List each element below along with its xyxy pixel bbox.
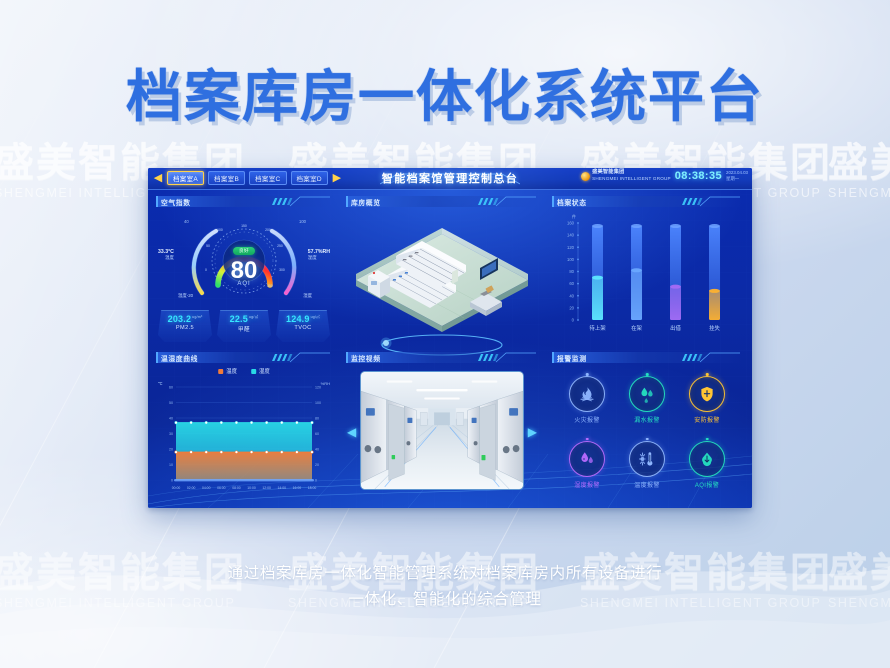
panel-header: 报警监测 <box>552 352 742 363</box>
alarm-status-dot <box>706 373 709 376</box>
page-title: 档案库房一体化系统平台 <box>0 52 890 133</box>
alarm-label: 安防报警 <box>689 415 725 424</box>
aqi-status-badge: 良好 <box>233 247 255 255</box>
legend-item-temperature[interactable]: 温度 <box>218 367 237 375</box>
svg-text:100: 100 <box>217 228 223 232</box>
video-feed-image <box>361 372 523 489</box>
company-logo-icon <box>581 172 590 181</box>
panel-title: 档案状态 <box>557 197 587 207</box>
svg-text:%RH: %RH <box>321 381 330 386</box>
svg-text:00:00: 00:00 <box>172 486 181 490</box>
svg-text:80: 80 <box>315 417 319 421</box>
alarm-item-shield[interactable]: 安防报警 <box>689 376 725 424</box>
company-logo-en: SHENGMEI INTELLIGENT GROUP <box>592 176 671 181</box>
svg-text:18:00: 18:00 <box>308 486 317 490</box>
fire-icon <box>578 385 596 403</box>
panel-title: 报警监测 <box>557 353 587 363</box>
dashboard-header: ◀ 档案室A 档案室B 档案室C 档案室D ▶ 智能档案馆管理控制总台 盛美智能… <box>148 168 752 190</box>
panel-header: 档案状态 <box>552 196 742 207</box>
panel-header-deco-icon <box>270 196 330 207</box>
svg-text:50: 50 <box>206 244 210 248</box>
panel-title: 监控视频 <box>351 353 381 363</box>
caption-line-2: 一体化、智能化的综合管理 <box>0 587 890 613</box>
alarm-status-dot <box>706 438 709 441</box>
panel-body: ◀ ▶ <box>346 365 538 498</box>
alarm-label: AQI报警 <box>689 480 725 489</box>
chart-legend: 温度 湿度 <box>218 367 270 375</box>
video-next-arrow-icon[interactable]: ▶ <box>528 425 537 439</box>
svg-text:200: 200 <box>265 228 271 232</box>
metric-value: 203.2ug/m³ <box>158 314 212 324</box>
alarm-item-humidity[interactable]: 湿度报警 <box>569 441 605 489</box>
svg-text:出借: 出借 <box>670 324 681 332</box>
svg-text:14:00: 14:00 <box>278 486 287 490</box>
legend-label: 湿度 <box>259 367 270 375</box>
panel-temp-humidity-curve: 温湿度曲线 温度 湿度 ℃%RH0010202040306 <box>156 352 332 498</box>
alarm-ring <box>569 376 605 412</box>
svg-text:60: 60 <box>569 281 574 286</box>
svg-text:120: 120 <box>315 386 321 390</box>
legend-swatch-temperature <box>218 369 223 374</box>
gauge-hum-max-label: 湿度 <box>303 293 312 299</box>
svg-text:50: 50 <box>169 401 173 405</box>
watermark: 盛美智能集团 SHENGMEI INTELLIGENT GROUP <box>828 142 890 200</box>
svg-text:40: 40 <box>315 448 319 452</box>
panel-video-surveillance: 监控视频 ◀ ▶ <box>346 352 538 498</box>
svg-text:0: 0 <box>171 479 173 483</box>
svg-text:在架: 在架 <box>631 324 642 332</box>
metric-label: 甲醛 <box>217 325 271 333</box>
header-weekday: 星期一 <box>726 176 748 182</box>
panel-title: 温湿度曲线 <box>161 353 198 363</box>
aqi-unit-label: AQI <box>214 281 274 287</box>
alarm-label: 温度报警 <box>629 480 665 489</box>
metric-value: 124.9ug/㎥ <box>276 314 330 324</box>
svg-text:80: 80 <box>569 269 574 274</box>
alarm-item-thermometer[interactable]: 温度报警 <box>629 441 665 489</box>
archive-status-bar-chart: 件020406080100120140160待上架在架出借挂失 <box>552 209 742 342</box>
svg-text:20: 20 <box>315 463 319 467</box>
svg-text:10: 10 <box>169 463 173 467</box>
panel-header-deco-icon <box>270 352 330 363</box>
metric-card-pm25: 203.2ug/m³ PM2.5 <box>158 310 212 342</box>
watermark-en: SHENGMEI INTELLIGENT GROUP <box>828 186 890 200</box>
shield-icon <box>698 385 716 403</box>
warehouse-3d-model[interactable] <box>352 228 532 336</box>
panel-body: 件020406080100120140160待上架在架出借挂失 <box>552 209 742 344</box>
svg-text:40: 40 <box>169 417 173 421</box>
svg-text:02:00: 02:00 <box>187 486 196 490</box>
metric-card-formaldehyde: 22.5ug/㎥ 甲醛 <box>217 310 271 342</box>
video-feed[interactable] <box>360 371 524 490</box>
header-date: 2023.04.03 星期一 <box>726 170 748 181</box>
alarm-label: 漏水报警 <box>629 415 665 424</box>
panel-header-deco-icon <box>476 196 536 207</box>
panel-body: 温度 湿度 ℃%RH001020204030604080501006012000… <box>156 365 332 498</box>
panel-title: 库房概览 <box>351 197 381 207</box>
company-logo-text: 盛美智能集团 SHENGMEI INTELLIGENT GROUP <box>592 170 671 181</box>
thermometer-icon <box>638 450 656 468</box>
gauge-temperature-label: 温度 <box>165 255 174 260</box>
panel-header-deco-icon <box>680 196 740 207</box>
gauge-temp-min-label: 温度-20 <box>178 293 193 299</box>
svg-text:件: 件 <box>572 213 576 219</box>
svg-text:100: 100 <box>567 257 575 262</box>
alarm-status-dot <box>586 373 589 376</box>
alarm-ring <box>689 441 725 477</box>
company-logo: 盛美智能集团 SHENGMEI INTELLIGENT GROUP <box>581 170 671 181</box>
svg-text:100: 100 <box>315 401 321 405</box>
alarm-ring <box>569 441 605 477</box>
header-right-cluster: 盛美智能集团 SHENGMEI INTELLIGENT GROUP 08:38:… <box>581 170 748 182</box>
svg-text:40: 40 <box>569 293 574 298</box>
panel-body: 150 200 250 300 350 100 50 0 良好 80 AQI <box>156 209 332 344</box>
alarm-status-dot <box>646 373 649 376</box>
header-clock: 08:38:35 <box>675 170 722 182</box>
alarm-label: 湿度报警 <box>569 480 605 489</box>
panel-alarm-monitoring: 报警监测 火灾报警漏水报警安防报警湿度报警温度报警AQI报警 <box>552 352 742 498</box>
panel-air-quality: 空气指数 <box>156 196 332 344</box>
metric-card-tvoc: 124.9ug/㎥ TVOC <box>276 310 330 342</box>
gauge-temperature-readout: 33.3°C 温度 <box>158 249 174 261</box>
gauge-scale-left: 40 <box>184 219 189 224</box>
svg-text:04:00: 04:00 <box>202 486 211 490</box>
svg-text:160: 160 <box>567 221 575 226</box>
svg-text:16:00: 16:00 <box>293 486 302 490</box>
legend-label: 温度 <box>226 367 237 375</box>
panel-body <box>346 222 538 370</box>
svg-text:120: 120 <box>567 245 575 250</box>
svg-text:20: 20 <box>569 305 574 310</box>
page-caption: 通过档案库房一体化智能管理系统对档案库房内所有设备进行 一体化、智能化的综合管理 <box>0 561 890 612</box>
caption-line-1: 通过档案库房一体化智能管理系统对档案库房内所有设备进行 <box>0 561 890 587</box>
svg-text:60: 60 <box>315 432 319 436</box>
gauge-scale-right: 100 <box>299 219 306 224</box>
svg-text:250: 250 <box>277 244 283 248</box>
leaf-icon <box>698 450 716 468</box>
aqi-readout: 良好 80 AQI <box>214 239 274 287</box>
svg-text:0: 0 <box>205 268 207 272</box>
svg-text:300: 300 <box>279 268 285 272</box>
metric-value: 22.5ug/㎥ <box>217 314 271 324</box>
air-metric-cards: 203.2ug/m³ PM2.5 22.5ug/㎥ 甲醛 124.9ug/㎥ T… <box>158 310 330 342</box>
panel-archive-status: 档案状态 件020406080100120140160待上架在架出借挂失 <box>552 196 742 344</box>
panel-header: 空气指数 <box>156 196 332 207</box>
alarm-item-leaf[interactable]: AQI报警 <box>689 441 725 489</box>
dashboard: ◀ 档案室A 档案室B 档案室C 档案室D ▶ 智能档案馆管理控制总台 盛美智能… <box>148 168 752 508</box>
alarm-status-dot <box>646 438 649 441</box>
gauge-humidity-readout: 57.7%RH 湿度 <box>308 249 330 261</box>
panel-warehouse-overview: 库房概览 <box>346 196 538 344</box>
svg-text:0: 0 <box>572 318 575 323</box>
humidity-icon <box>578 450 596 468</box>
svg-text:08:00: 08:00 <box>232 486 241 490</box>
svg-text:挂失: 挂失 <box>709 324 720 332</box>
svg-text:12:00: 12:00 <box>262 486 271 490</box>
aqi-gauge: 150 200 250 300 350 100 50 0 良好 80 AQI <box>156 209 332 305</box>
legend-item-humidity[interactable]: 湿度 <box>251 367 270 375</box>
svg-text:140: 140 <box>567 233 575 238</box>
water-drop-icon <box>638 385 656 403</box>
alarm-ring <box>629 376 665 412</box>
metric-label: PM2.5 <box>158 325 212 331</box>
panel-header: 库房概览 <box>346 196 538 207</box>
panel-title: 空气指数 <box>161 197 191 207</box>
svg-text:0: 0 <box>315 479 317 483</box>
alarm-grid: 火灾报警漏水报警安防报警湿度报警温度报警AQI报警 <box>558 369 736 496</box>
watermark-cn: 盛美智能集团 <box>828 142 890 184</box>
aqi-value: 80 <box>214 258 274 283</box>
metric-label: TVOC <box>276 325 330 331</box>
svg-text:20: 20 <box>169 448 173 452</box>
svg-text:℃: ℃ <box>158 381 163 386</box>
temp-humidity-area-chart: ℃%RH001020204030604080501006012000:0002:… <box>156 377 332 498</box>
panel-header-deco-icon <box>476 352 536 363</box>
dashboard-screenshot: ◀ 档案室A 档案室B 档案室C 档案室D ▶ 智能档案馆管理控制总台 盛美智能… <box>148 168 752 508</box>
alarm-status-dot <box>586 438 589 441</box>
panel-header: 监控视频 <box>346 352 538 363</box>
alarm-item-water-drop[interactable]: 漏水报警 <box>629 376 665 424</box>
panel-header-deco-icon <box>680 352 740 363</box>
gauge-humidity-label: 湿度 <box>308 255 317 260</box>
svg-text:30: 30 <box>169 432 173 436</box>
svg-text:60: 60 <box>169 386 173 390</box>
alarm-ring <box>689 376 725 412</box>
legend-swatch-humidity <box>251 369 256 374</box>
alarm-label: 火灾报警 <box>569 415 605 424</box>
svg-text:10:00: 10:00 <box>247 486 256 490</box>
alarm-ring <box>629 441 665 477</box>
panel-body: 火灾报警漏水报警安防报警湿度报警温度报警AQI报警 <box>552 365 742 498</box>
video-prev-arrow-icon[interactable]: ◀ <box>347 425 356 439</box>
svg-text:06:00: 06:00 <box>217 486 226 490</box>
svg-text:150: 150 <box>241 224 247 228</box>
alarm-item-fire[interactable]: 火灾报警 <box>569 376 605 424</box>
panel-header: 温湿度曲线 <box>156 352 332 363</box>
svg-text:待上架: 待上架 <box>589 324 606 332</box>
